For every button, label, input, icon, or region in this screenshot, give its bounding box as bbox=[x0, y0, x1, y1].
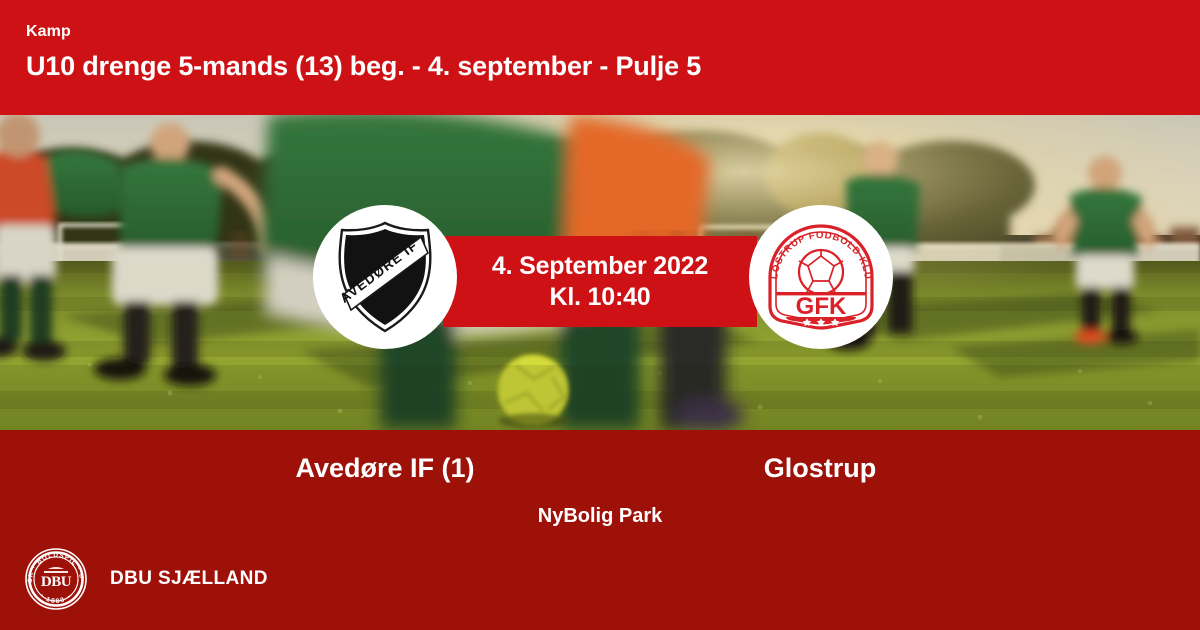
footer-brand[interactable]: DANSK · BOLDSPIL · UNION · 1889 · DBU DB… bbox=[22, 545, 268, 613]
match-poster: Kamp U10 drenge 5-mands (13) beg. - 4. s… bbox=[0, 0, 1200, 630]
dbu-seal-icon: DANSK · BOLDSPIL · UNION · 1889 · DBU bbox=[22, 545, 90, 613]
home-team-name: Avedøre IF (1) bbox=[185, 448, 585, 488]
footer-label: DBU SJÆLLAND bbox=[110, 567, 268, 591]
venue-name: NyBolig Park bbox=[0, 502, 1200, 530]
match-time: Kl. 10:40 bbox=[549, 282, 650, 313]
match-date-banner: 4. September 2022 Kl. 10:40 bbox=[443, 236, 757, 327]
match-date: 4. September 2022 bbox=[492, 251, 708, 282]
home-team-logo[interactable]: AVEDØRE IF bbox=[313, 205, 457, 349]
away-team-logo[interactable]: GLOSTRUP FODBOLD KLUB GFK bbox=[749, 205, 893, 349]
football-icon bbox=[799, 250, 843, 294]
dbu-monogram: DBU bbox=[41, 574, 72, 590]
away-team-name: Glostrup bbox=[620, 448, 1020, 488]
team-names-row: Avedøre IF (1) Glostrup bbox=[0, 448, 1200, 488]
header-kicker: Kamp bbox=[26, 22, 1200, 42]
away-logo-monogram: GFK bbox=[796, 293, 847, 320]
header: Kamp U10 drenge 5-mands (13) beg. - 4. s… bbox=[0, 0, 1200, 115]
page-title: U10 drenge 5-mands (13) beg. - 4. septem… bbox=[26, 48, 1200, 84]
